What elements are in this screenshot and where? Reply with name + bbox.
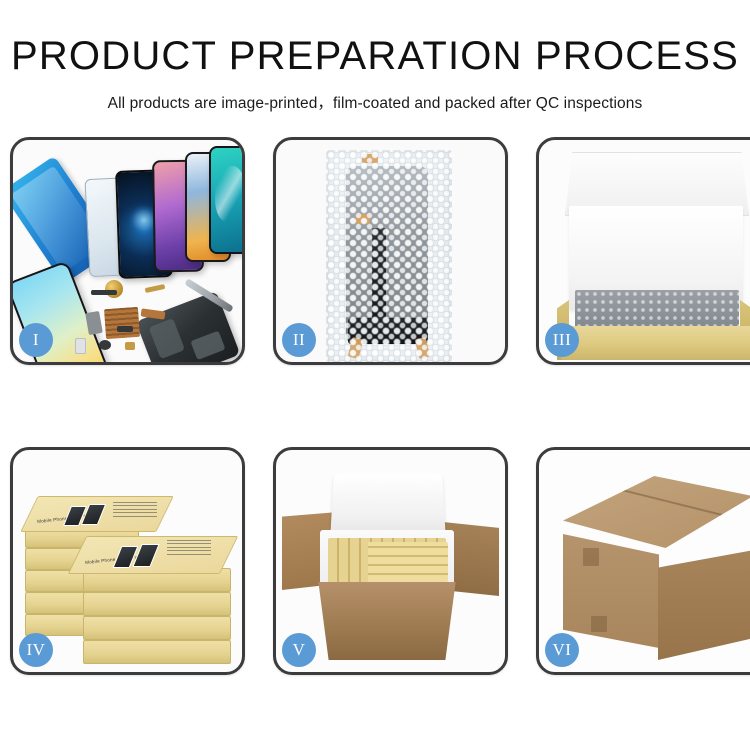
header: PRODUCT PREPARATION PROCESS All products… bbox=[0, 0, 750, 113]
step-panel-3: III bbox=[536, 137, 750, 365]
kraft-box-body bbox=[561, 326, 750, 360]
step-badge-6: VI bbox=[545, 633, 579, 667]
bubble-wrap-bag bbox=[326, 150, 452, 362]
step-badge-3: III bbox=[545, 323, 579, 357]
yellow-boxes-row-2 bbox=[368, 542, 448, 582]
product-preparation-infographic: PRODUCT PREPARATION PROCESS All products… bbox=[0, 0, 750, 750]
stack-box-right-2 bbox=[83, 592, 231, 616]
step-panel-5: V bbox=[273, 447, 508, 675]
camera-module-part bbox=[85, 311, 103, 335]
step-badge-5: V bbox=[282, 633, 316, 667]
speaker-part bbox=[99, 340, 111, 350]
process-steps-grid: I II bbox=[10, 137, 740, 677]
vibration-motor-part bbox=[105, 280, 123, 298]
carton-tab-upper bbox=[583, 548, 599, 566]
box-text-lines-front bbox=[167, 540, 211, 557]
box-stack: Mobile Phone Spare Parts Mobile Phone Sp… bbox=[21, 472, 237, 662]
carton-top-face bbox=[563, 476, 750, 548]
step-panel-2: II bbox=[273, 137, 508, 365]
stack-box-right-3 bbox=[83, 616, 231, 640]
carton-body bbox=[314, 582, 460, 660]
page-title: PRODUCT PREPARATION PROCESS bbox=[0, 36, 750, 76]
step-panel-4: Mobile Phone Spare Parts Mobile Phone Sp… bbox=[10, 447, 245, 675]
phone-teal-display bbox=[209, 146, 242, 254]
stack-box-right-4 bbox=[83, 640, 231, 664]
carton-side-face bbox=[658, 550, 750, 660]
sim-tray-part bbox=[75, 338, 86, 354]
box-text-lines-back bbox=[113, 502, 157, 519]
logic-board-part bbox=[104, 307, 140, 339]
carton-tab-lower bbox=[591, 616, 607, 632]
earpiece-part bbox=[91, 290, 117, 295]
step-panel-6: VI bbox=[536, 447, 750, 675]
step-badge-1: I bbox=[19, 323, 53, 357]
bubble-texture bbox=[326, 150, 452, 362]
step-badge-2: II bbox=[282, 323, 316, 357]
step-panel-1: I bbox=[10, 137, 245, 365]
antenna-part bbox=[117, 326, 133, 332]
flex-cable-part bbox=[145, 284, 166, 293]
carton-front-face bbox=[563, 534, 659, 648]
page-subtitle: All products are image-printed，film-coat… bbox=[0, 91, 750, 113]
screw-set-part bbox=[125, 342, 135, 350]
step-badge-4: IV bbox=[19, 633, 53, 667]
